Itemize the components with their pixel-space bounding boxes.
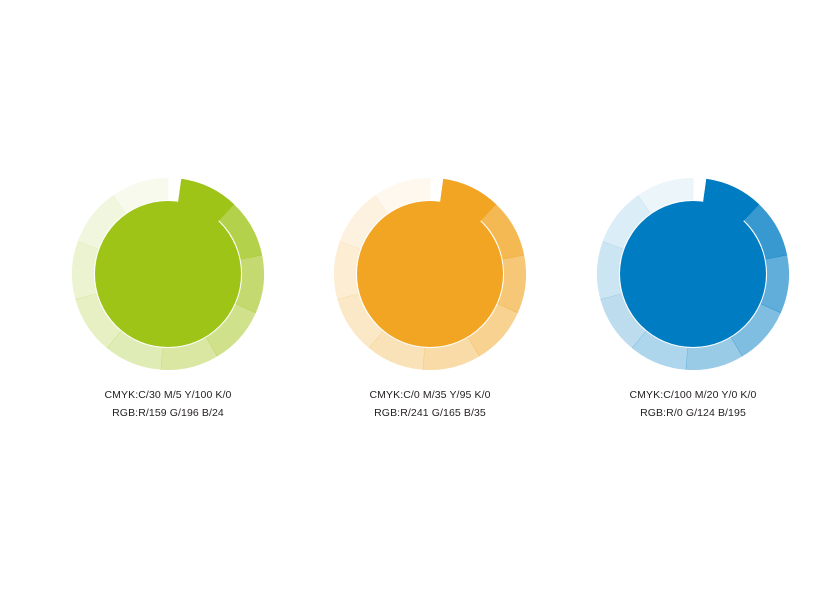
orange-ring-segment-8[interactable] — [334, 241, 360, 300]
blue-color-dial[interactable] — [593, 174, 793, 374]
green-rgb-label: RGB:R/159 G/196 B/24 — [38, 404, 298, 422]
blue-swatch[interactable]: CMYK:C/100 M/20 Y/0 K/0RGB:R/0 G/124 B/1… — [563, 174, 823, 423]
blue-dial-graphic — [593, 174, 793, 374]
green-caption: CMYK:C/30 M/5 Y/100 K/0RGB:R/159 G/196 B… — [38, 386, 298, 423]
blue-core-disc[interactable] — [620, 201, 766, 347]
orange-dial-graphic — [330, 174, 530, 374]
green-cmyk-label: CMYK:C/30 M/5 Y/100 K/0 — [38, 386, 298, 404]
blue-rgb-label: RGB:R/0 G/124 B/195 — [563, 404, 823, 422]
green-color-dial[interactable] — [68, 174, 268, 374]
orange-swatch[interactable]: CMYK:C/0 M/35 Y/95 K/0RGB:R/241 G/165 B/… — [300, 174, 560, 423]
orange-cmyk-label: CMYK:C/0 M/35 Y/95 K/0 — [300, 386, 560, 404]
orange-core-disc[interactable] — [357, 201, 503, 347]
orange-rgb-label: RGB:R/241 G/165 B/35 — [300, 404, 560, 422]
green-swatch[interactable]: CMYK:C/30 M/5 Y/100 K/0RGB:R/159 G/196 B… — [38, 174, 298, 423]
green-core-disc[interactable] — [95, 201, 241, 347]
palette-canvas: CMYK:C/30 M/5 Y/100 K/0RGB:R/159 G/196 B… — [0, 0, 838, 597]
blue-caption: CMYK:C/100 M/20 Y/0 K/0RGB:R/0 G/124 B/1… — [563, 386, 823, 423]
green-ring-segment-8[interactable] — [72, 241, 98, 300]
blue-cmyk-label: CMYK:C/100 M/20 Y/0 K/0 — [563, 386, 823, 404]
orange-color-dial[interactable] — [330, 174, 530, 374]
blue-ring-segment-8[interactable] — [597, 241, 623, 300]
orange-caption: CMYK:C/0 M/35 Y/95 K/0RGB:R/241 G/165 B/… — [300, 386, 560, 423]
green-dial-graphic — [68, 174, 268, 374]
